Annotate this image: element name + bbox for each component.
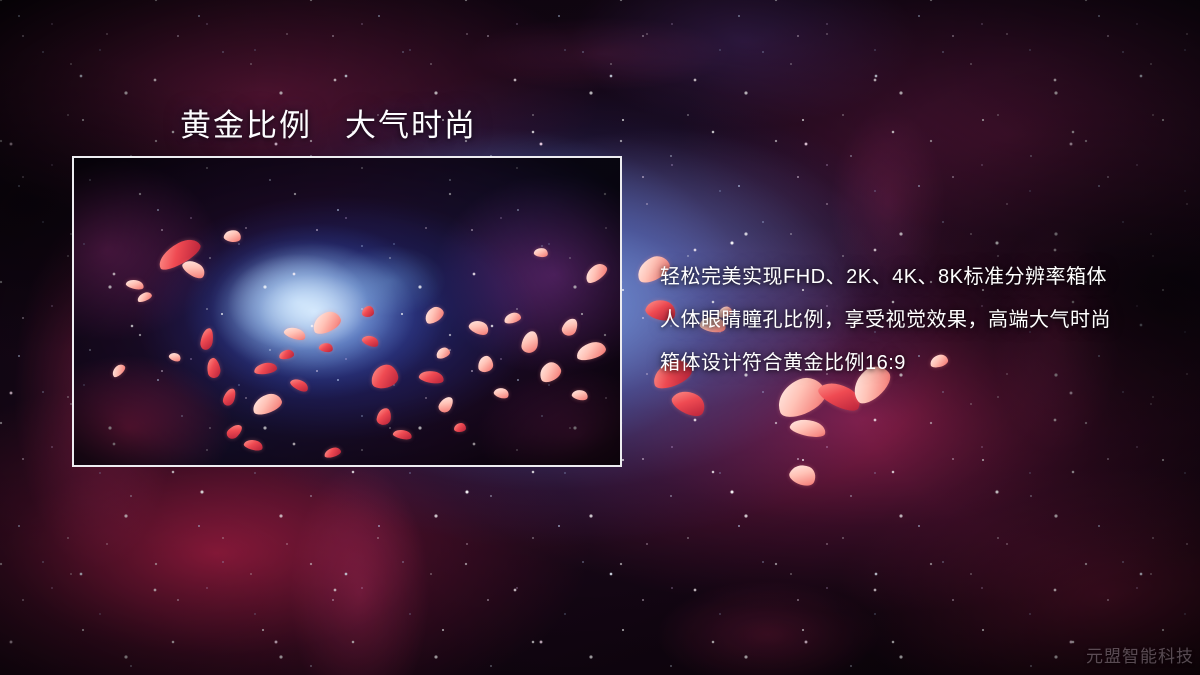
photo-frame: [72, 156, 622, 467]
body-text-line: 箱体设计符合黄金比例16:9: [660, 342, 1180, 385]
petal-shape: [467, 317, 491, 337]
petal-shape: [289, 376, 310, 394]
petal-shape: [361, 333, 381, 349]
petal-shape: [787, 461, 819, 490]
petal-shape: [437, 394, 456, 415]
slide-title: 黄金比例 大气时尚: [180, 100, 477, 145]
petal-shape: [221, 387, 237, 408]
petal-shape: [789, 416, 828, 440]
petal-shape: [180, 256, 208, 281]
petal-shape: [422, 304, 446, 326]
photo-starfield-small: [72, 156, 622, 467]
body-text-line: 轻松完美实现FHD、2K、4K、8K标准分辨率箱体: [660, 256, 1180, 299]
petal-shape: [125, 278, 145, 291]
photo-nebula: [74, 158, 620, 465]
photo-vignette: [74, 158, 620, 465]
petal-shape: [278, 349, 294, 360]
body-text-block: 轻松完美实现FHD、2K、4K、8K标准分辨率箱体 人体眼睛瞳孔比例，享受视觉效…: [660, 256, 1180, 385]
petal-shape: [435, 346, 451, 360]
petal-shape: [582, 260, 610, 285]
petal-shape: [493, 386, 511, 401]
petal-shape: [205, 357, 222, 379]
petal-shape: [283, 325, 307, 343]
petal-shape: [536, 359, 563, 384]
petal-shape: [418, 369, 445, 386]
petal-shape: [477, 355, 494, 372]
petal-shape: [503, 311, 522, 324]
petal-shape: [243, 438, 264, 453]
petal-shape: [168, 351, 182, 363]
petal-shape: [136, 291, 153, 304]
petal-shape: [110, 362, 127, 379]
petal-shape: [225, 422, 245, 442]
petal-shape: [454, 423, 466, 432]
petal-shape: [253, 362, 277, 375]
petal-shape: [223, 229, 242, 244]
petal-shape: [521, 330, 540, 354]
petal-shape: [392, 428, 413, 441]
petal-shape: [154, 234, 204, 273]
petal-shape: [571, 388, 589, 402]
petal-shape: [200, 327, 215, 350]
petal-shape: [533, 247, 548, 258]
petal-shape: [362, 306, 374, 317]
body-text-line: 人体眼睛瞳孔比例，享受视觉效果，高端大气时尚: [660, 299, 1180, 342]
presentation-slide: 黄金比例 大气时尚 轻松完美实现FHD、2K、4K、8K标准分辨率箱体 人体眼睛…: [0, 0, 1200, 675]
petal-shape: [318, 342, 334, 354]
petal-shape: [376, 407, 392, 426]
petal-shape: [250, 391, 284, 417]
photo-nebula-core-glow: [74, 158, 620, 465]
petal-shape: [369, 363, 400, 390]
petal-shape: [575, 340, 608, 363]
petal-shape: [669, 385, 709, 421]
petal-shape: [309, 308, 343, 336]
watermark: 元盟智能科技: [1086, 642, 1194, 667]
petal-shape: [323, 446, 342, 459]
petal-shape: [560, 316, 580, 338]
photo-starfield-medium: [72, 156, 622, 467]
